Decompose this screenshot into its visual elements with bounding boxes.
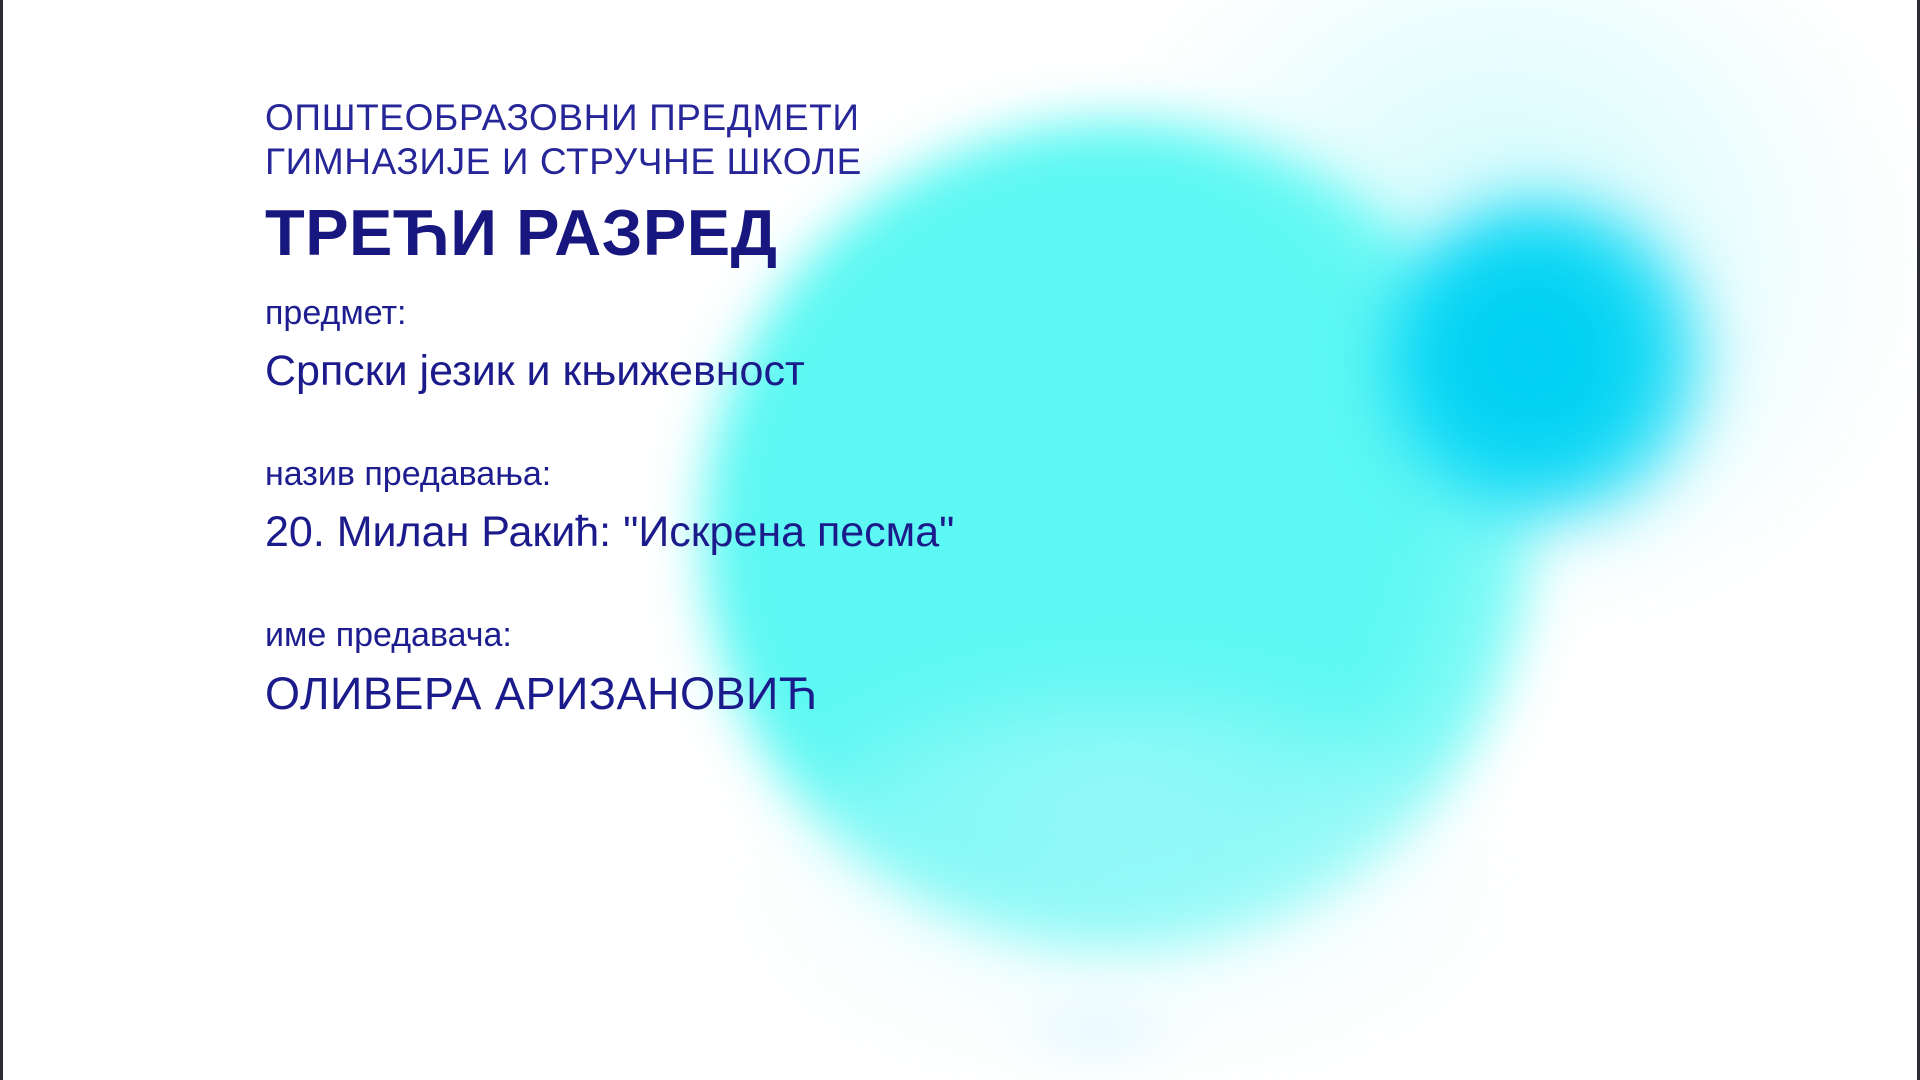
subject-value: Српски језик и књижевност	[265, 345, 1465, 397]
field-lecturer: име предавача: ОЛИВЕРА АРИЗАНОВИЋ	[265, 614, 1465, 721]
title-slide: ОПШТЕОБРАЗОВНИ ПРЕДМЕТИ ГИМНАЗИЈЕ И СТРУ…	[0, 0, 1920, 1080]
lecturer-value: ОЛИВЕРА АРИЗАНОВИЋ	[265, 667, 1465, 722]
subject-label: предмет:	[265, 292, 1465, 335]
page-title: ТРЕЋИ РАЗРЕД	[265, 199, 1465, 267]
lecturer-label: име предавача:	[265, 614, 1465, 657]
lecture-title-value: 20. Милан Ракић: "Искрена песма"	[265, 506, 1465, 558]
eyebrow-line-2: ГИМНАЗИЈЕ И СТРУЧНЕ ШКОЛЕ	[265, 140, 1465, 184]
field-lecture-title: назив предавања: 20. Милан Ракић: "Искре…	[265, 453, 1465, 558]
slide-content: ОПШТЕОБРАЗОВНИ ПРЕДМЕТИ ГИМНАЗИЈЕ И СТРУ…	[265, 96, 1465, 722]
lower-cyan-wash	[763, 700, 1483, 1060]
small-cyan-spot	[1003, 985, 1193, 1075]
eyebrow-line-1: ОПШТЕОБРАЗОВНИ ПРЕДМЕТИ	[265, 96, 1465, 140]
lecture-title-label: назив предавања:	[265, 453, 1465, 496]
field-subject: предмет: Српски језик и књижевност	[265, 292, 1465, 397]
